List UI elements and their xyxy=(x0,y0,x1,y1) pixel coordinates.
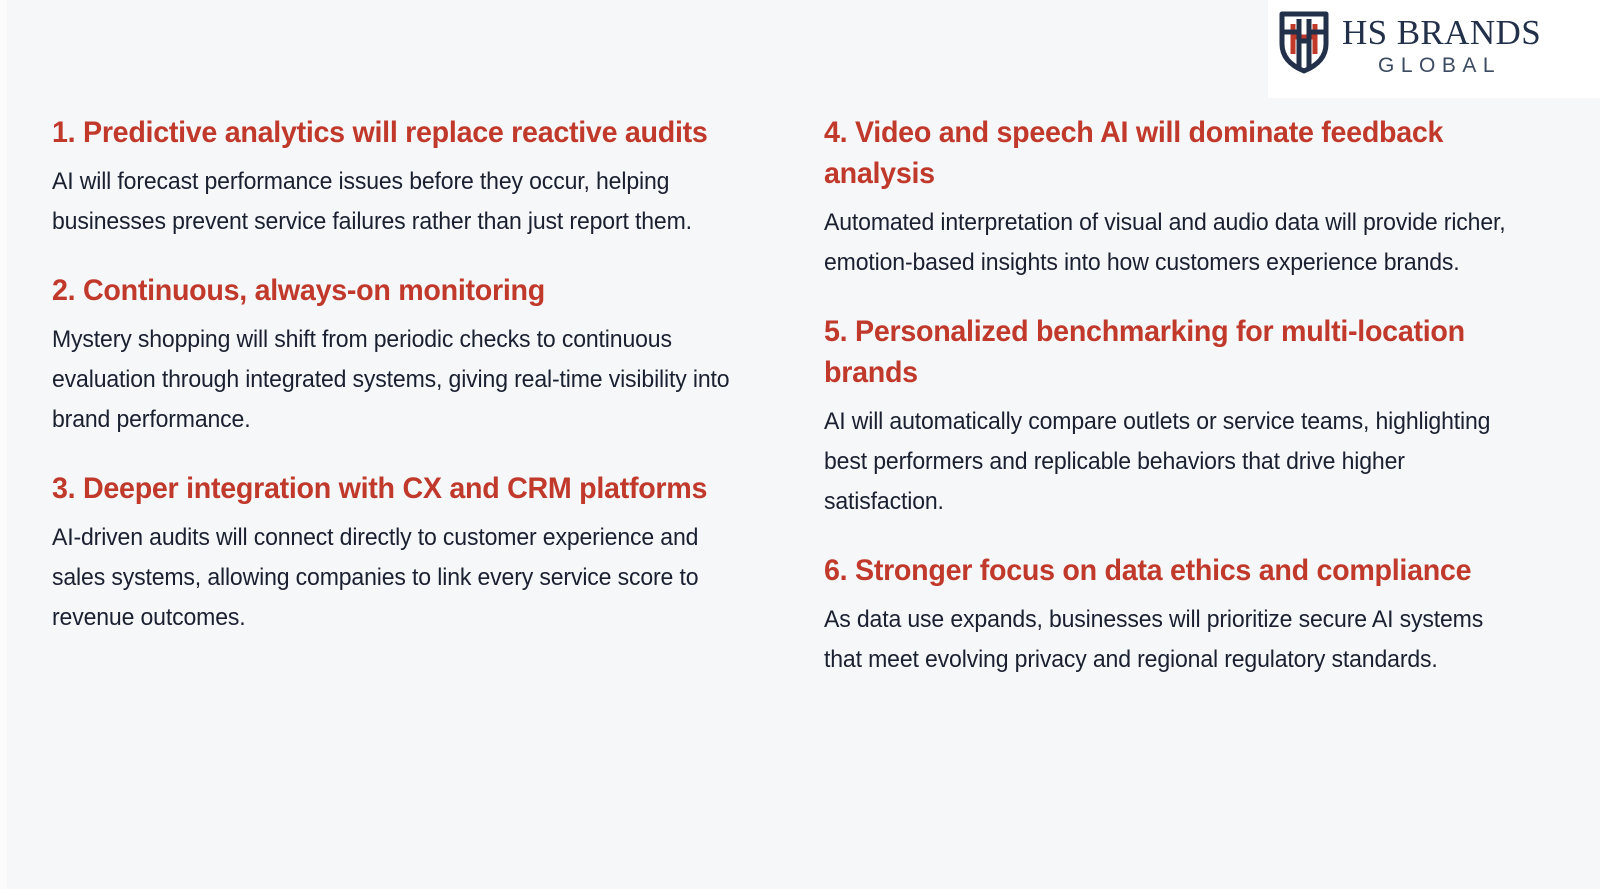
trends-list: 1. Predictive analytics will replace rea… xyxy=(0,0,1600,889)
list-item-body: Automated interpretation of visual and a… xyxy=(824,203,1511,283)
list-item-body: AI-driven audits will connect directly t… xyxy=(52,518,739,638)
list-item-body: Mystery shopping will shift from periodi… xyxy=(52,320,739,440)
right-column: 4. Video and speech AI will dominate fee… xyxy=(824,112,1540,889)
list-item: 2. Continuous, always-on monitoring Myst… xyxy=(52,270,768,440)
list-item-heading: 4. Video and speech AI will dominate fee… xyxy=(824,112,1508,194)
list-item-heading: 2. Continuous, always-on monitoring xyxy=(52,270,736,311)
list-item-heading: 6. Stronger focus on data ethics and com… xyxy=(824,550,1508,591)
list-item-heading: 3. Deeper integration with CX and CRM pl… xyxy=(52,468,736,509)
list-item: 4. Video and speech AI will dominate fee… xyxy=(824,112,1540,283)
list-item: 1. Predictive analytics will replace rea… xyxy=(52,112,768,242)
list-item-body: AI will forecast performance issues befo… xyxy=(52,162,739,242)
list-item-heading: 1. Predictive analytics will replace rea… xyxy=(52,112,736,153)
list-item-heading: 5. Personalized benchmarking for multi-l… xyxy=(824,311,1508,393)
list-item-body: As data use expands, businesses will pri… xyxy=(824,600,1511,680)
list-item: 5. Personalized benchmarking for multi-l… xyxy=(824,311,1540,522)
list-item: 3. Deeper integration with CX and CRM pl… xyxy=(52,468,768,638)
list-item: 6. Stronger focus on data ethics and com… xyxy=(824,550,1540,680)
list-item-body: AI will automatically compare outlets or… xyxy=(824,402,1511,522)
left-column: 1. Predictive analytics will replace rea… xyxy=(52,112,768,889)
